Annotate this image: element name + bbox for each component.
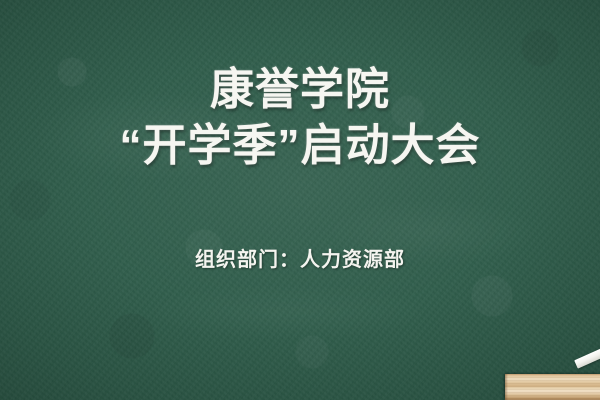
title-block: 康誉学院 “开学季”启动大会	[0, 62, 600, 175]
subtitle-block: 组织部门：人力资源部	[0, 243, 600, 272]
slide-content: 康誉学院 “开学季”启动大会 组织部门：人力资源部	[0, 0, 600, 400]
chalk-tray-edge	[505, 374, 508, 400]
slide-subtitle-organizer: 组织部门：人力资源部	[0, 243, 600, 272]
slide-title-line-1: 康誉学院	[0, 62, 600, 118]
chalkboard-slide: 康誉学院 “开学季”启动大会 组织部门：人力资源部	[0, 0, 600, 400]
slide-title-line-2: “开学季”启动大会	[0, 118, 600, 174]
chalk-tray-grain	[505, 374, 600, 400]
chalk-tray	[505, 374, 600, 400]
